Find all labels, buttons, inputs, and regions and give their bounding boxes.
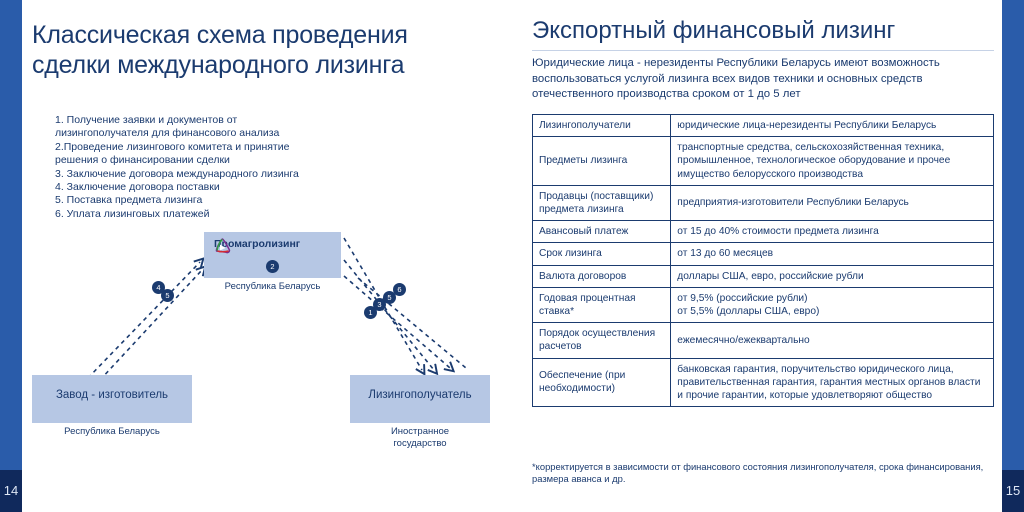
row-key: Годовая процентная ставка* [533, 287, 671, 322]
promagroleasing-logo-row: Промагролизинг [214, 238, 300, 250]
right-column: Экспортный финансовый лизинг Юридические… [520, 0, 1002, 512]
row-key: Срок лизинга [533, 243, 671, 265]
row-value: от 15 до 40% стоимости предмета лизинга [671, 221, 994, 243]
row-value: банковская гарантия, поручительство юрид… [671, 358, 994, 407]
left-column: Классическая схема проведения сделки меж… [22, 0, 514, 512]
row-value: доллары США, евро, российские рубли [671, 265, 994, 287]
diagram-badge-5-left: 5 [161, 289, 174, 302]
leasing-terms-table: Лизингополучатели юридические лица-нерез… [532, 114, 994, 407]
row-key: Лизингополучатели [533, 115, 671, 137]
right-page-title: Экспортный финансовый лизинг [532, 16, 992, 46]
row-key: Валюта договоров [533, 265, 671, 287]
table-row: Валюта договоров доллары США, евро, росс… [533, 265, 994, 287]
row-key: Продавцы (поставщики) предмета лизинга [533, 185, 671, 220]
page-number-left: 14 [0, 470, 22, 512]
table-row: Срок лизинга от 13 до 60 месяцев [533, 243, 994, 265]
title-divider [532, 50, 994, 51]
page-number-right: 15 [1002, 470, 1024, 512]
center-node-caption: Республика Беларусь [204, 281, 341, 293]
left-edge-bar [0, 0, 22, 512]
left-page-title: Классическая схема проведения сделки меж… [32, 20, 484, 80]
table-row: Обеспечение (при необходимости) банковск… [533, 358, 994, 407]
row-value: транспортные средства, сельскохозяйствен… [671, 137, 994, 186]
row-value: от 9,5% (российские рубли) от 5,5% (долл… [671, 287, 994, 322]
diagram-badge-2: 2 [266, 260, 279, 273]
leasing-scheme-diagram: Промагролизинг 2 Республика Беларусь Зав… [22, 218, 514, 468]
table-row: Предметы лизинга транспортные средства, … [533, 137, 994, 186]
lessee-caption: Иностранноегосударство [350, 426, 490, 450]
step-line: 4. Заключение договора поставки [55, 181, 355, 194]
row-value: ежемесячно/ежеквартально [671, 323, 994, 358]
right-edge-bar [1002, 0, 1024, 512]
row-value: юридические лица-нерезиденты Республики … [671, 115, 994, 137]
row-value: предприятия-изготовители Республики Бела… [671, 185, 994, 220]
slide: 14 15 Классическая схема проведения сдел… [0, 0, 1024, 512]
step-line: 5. Поставка предмета лизинга [55, 194, 355, 207]
diagram-badge-6: 6 [393, 283, 406, 296]
table-body: Лизингополучатели юридические лица-нерез… [533, 115, 994, 407]
table-row: Лизингополучатели юридические лица-нерез… [533, 115, 994, 137]
table-row: Авансовый платеж от 15 до 40% стоимости … [533, 221, 994, 243]
row-key: Предметы лизинга [533, 137, 671, 186]
promagroleasing-logo-icon [214, 238, 231, 254]
row-value: от 13 до 60 месяцев [671, 243, 994, 265]
row-key: Порядок осуществления расчетов [533, 323, 671, 358]
diagram-node-lessee[interactable]: Лизингополучатель [350, 375, 490, 423]
table-row: Порядок осуществления расчетов ежемесячн… [533, 323, 994, 358]
step-line: лизингополучателя для финансового анализ… [55, 127, 355, 140]
diagram-node-promagroleasing[interactable]: Промагролизинг 2 [204, 232, 341, 278]
manufacturer-caption: Республика Беларусь [32, 426, 192, 438]
step-line: 3. Заключение договора международного ли… [55, 168, 355, 181]
diagram-node-manufacturer[interactable]: Завод - изготовитель [32, 375, 192, 423]
table-row: Продавцы (поставщики) предмета лизинга п… [533, 185, 994, 220]
step-line: 1. Получение заявки и документов от [55, 114, 355, 127]
intro-paragraph: Юридические лица - нерезиденты Республик… [532, 56, 994, 103]
table-row: Годовая процентная ставка* от 9,5% (росс… [533, 287, 994, 322]
step-line: решения о финансировании сделки [55, 154, 355, 167]
lessee-label: Лизингополучатель [350, 389, 490, 401]
row-key: Обеспечение (при необходимости) [533, 358, 671, 407]
manufacturer-label: Завод - изготовитель [32, 389, 192, 401]
process-steps-list: 1. Получение заявки и документов от лизи… [55, 114, 355, 221]
step-line: 2.Проведение лизингового комитета и прин… [55, 141, 355, 154]
table-footnote: *корректируется в зависимости от финансо… [532, 461, 998, 486]
row-key: Авансовый платеж [533, 221, 671, 243]
